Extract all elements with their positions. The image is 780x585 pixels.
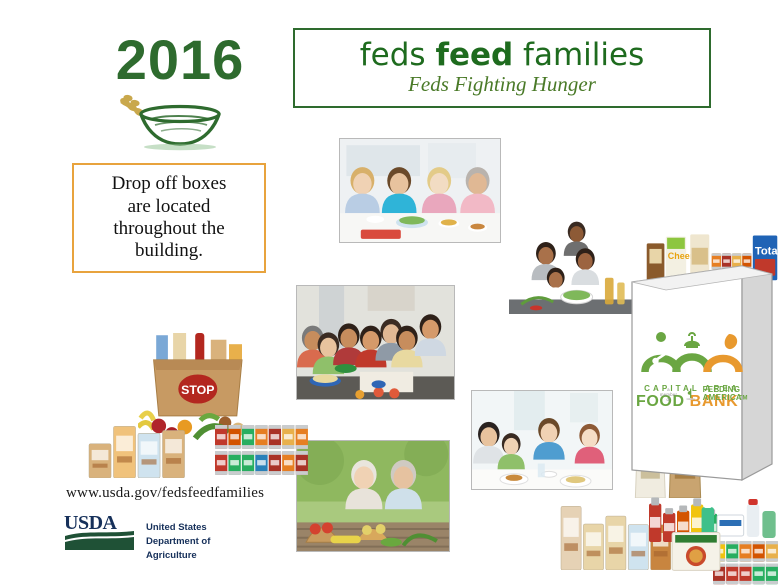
dropoff-notice-box: Drop off boxes are located throughout th… [72,163,266,273]
feeding-america-mark-icon [682,386,699,402]
wheat-bowl-logo [105,92,255,157]
dropoff-line-1: Drop off boxes [112,173,227,194]
photo-senior-couple-harvest [296,440,450,552]
dropoff-notice-text: Drop off boxes are located throughout th… [106,173,233,263]
title-word-feed: feed [435,37,513,73]
dropoff-line-2: are located [128,196,211,217]
year-label: 2016 [105,32,255,88]
title-word-families: families [523,37,644,73]
photo-extended-family-kitchen [296,285,455,400]
usda-name-line-3: Agriculture [146,549,210,563]
boxed-meal-cluster [670,530,722,572]
cafb-figures-icon [636,330,748,376]
packaged-goods-cluster-left [88,424,186,478]
usda-seal-icon: USDA [64,512,136,552]
feeding-america-logo: a member of FEEDING AMERICA [658,386,742,402]
feeding-america-line-2: AMERICA [703,394,742,402]
title-word-feds: feds [360,37,426,73]
svg-text:USDA: USDA [64,512,118,534]
dropoff-line-4: building. [135,240,203,261]
feds-feed-families-poster: 2016 [0,0,780,585]
title-subtitle: Feds Fighting Hunger [408,72,596,97]
website-url[interactable]: www.usda.gov/fedsfeedfamilies [66,485,264,502]
photo-family-of-four-dining [339,138,501,243]
feeding-america-member-of: a member of [658,387,679,402]
dropoff-line-3: throughout the [113,218,224,239]
usda-agency-name: United States Department of Agriculture [146,512,210,562]
title-banner: feds feed families Feds Fighting Hunger [293,28,711,108]
photo-family-at-dinner-table [471,390,613,490]
title-main: feds feed families [360,39,644,72]
year-block: 2016 [105,32,255,157]
canned-goods-cluster-left [214,424,308,476]
usda-logo: USDA United States Department of Agricul… [64,512,210,562]
usda-name-line-2: Department of [146,535,210,549]
photo-family-preparing-salad [509,193,632,314]
svg-text:STOP: STOP [181,383,214,397]
svg-text:Total: Total [755,246,780,258]
usda-name-line-1: United States [146,521,210,535]
